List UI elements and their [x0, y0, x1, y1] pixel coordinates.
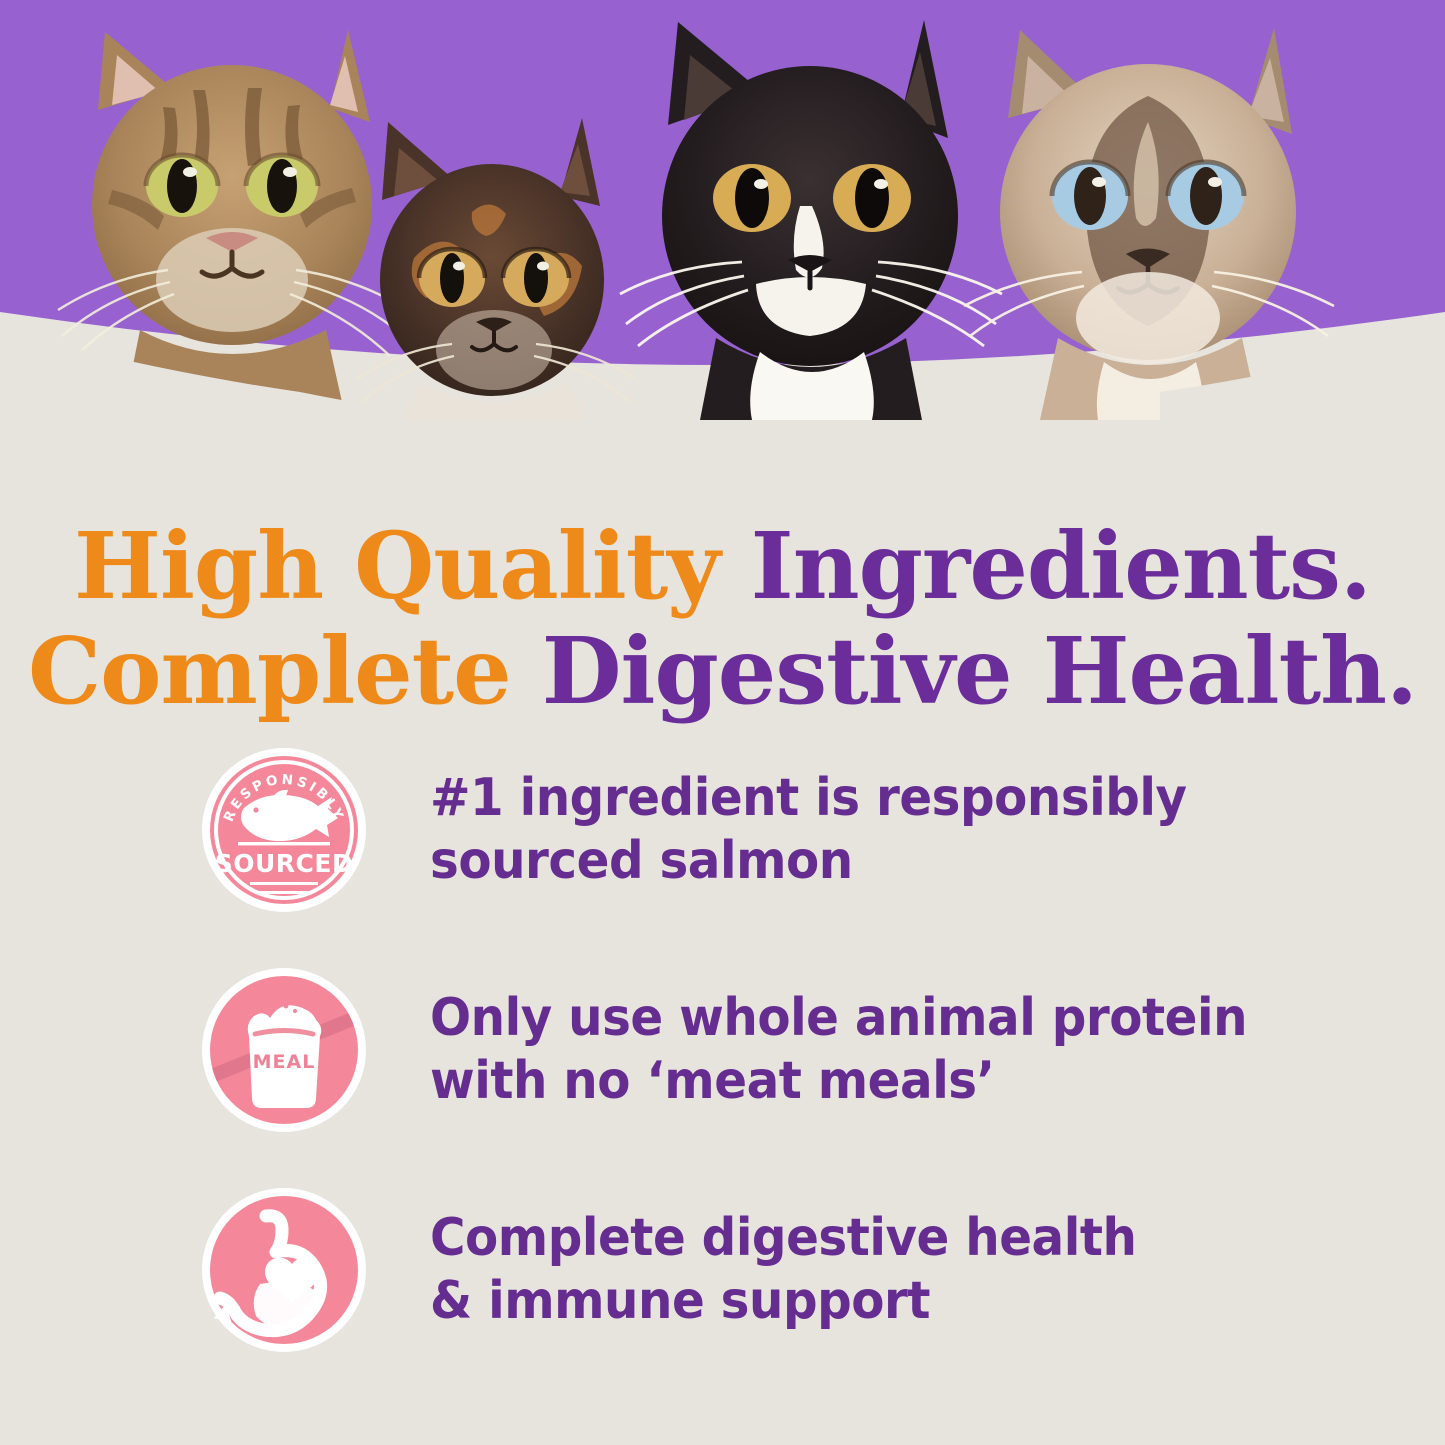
product-infographic-page: High Quality Ingredients. Complete Diges… — [0, 0, 1445, 1445]
feature-text-responsibly-sourced: #1 ingredient is responsibly sourced sal… — [430, 767, 1187, 894]
badge-main-text: MEAL — [253, 1051, 316, 1073]
feature-2-line-2: with no ‘meat meals’ — [430, 1050, 1247, 1113]
feature-1-line-1: #1 ingredient is responsibly — [430, 767, 1187, 830]
page-title: High Quality Ingredients. Complete Diges… — [0, 514, 1445, 724]
feature-3-line-2: & immune support — [430, 1270, 1136, 1333]
feature-text-digestive-health: Complete digestive health & immune suppo… — [430, 1207, 1136, 1334]
no-meat-meal-sack-badge: MEAL — [200, 966, 368, 1134]
feature-row-responsibly-sourced: RESPONSIBLY SOURCED #1 ingredi — [200, 720, 1320, 940]
feature-list: RESPONSIBLY SOURCED #1 ingredi — [200, 720, 1320, 1380]
headline-line-1: High Quality Ingredients. — [0, 514, 1445, 619]
cat-photo-banner — [0, 0, 1445, 420]
feature-text-no-meat-meals: Only use whole animal protein with no ‘m… — [430, 987, 1247, 1114]
headline-line1-orange: High Quality — [74, 512, 751, 620]
seal-point-ragdoll-cat — [964, 28, 1334, 420]
headline-line2-purple: Digestive Health. — [542, 617, 1417, 725]
feature-1-line-2: sourced salmon — [430, 830, 1187, 893]
feature-row-no-meat-meals: MEAL Only use whole animal protein with … — [200, 940, 1320, 1160]
feature-3-line-1: Complete digestive health — [430, 1207, 1136, 1270]
feature-2-line-1: Only use whole animal protein — [430, 987, 1247, 1050]
headline-line1-purple: Ingredients. — [751, 512, 1371, 620]
badge-main-text: SOURCED — [215, 849, 354, 878]
headline-line-2: Complete Digestive Health. — [0, 619, 1445, 724]
feature-row-digestive-health: Complete digestive health & immune suppo… — [200, 1160, 1320, 1380]
responsibly-sourced-fish-badge: RESPONSIBLY SOURCED — [200, 746, 368, 914]
headline-line2-orange: Complete — [28, 617, 542, 725]
digestive-stomach-heart-badge — [200, 1186, 368, 1354]
banner-artwork — [0, 0, 1445, 420]
